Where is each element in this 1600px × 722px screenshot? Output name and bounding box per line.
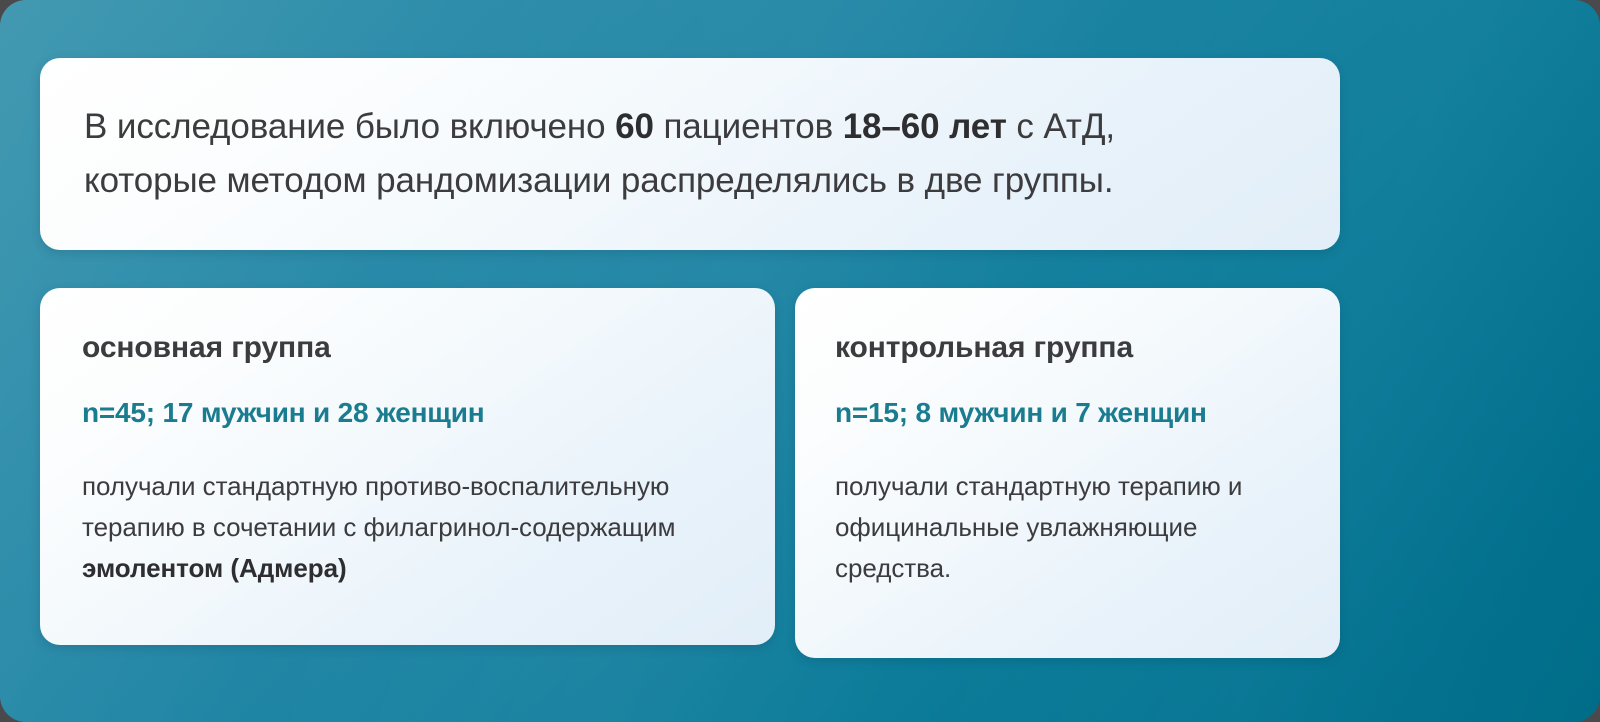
intro-age-range: 18–60 лет	[843, 107, 1007, 146]
main-group-stat: n=45; 17 мужчин и 28 женщин	[82, 396, 733, 430]
slide-canvas: В исследование было включено 60 пациенто…	[0, 0, 1600, 722]
control-group-body-text: получали стандартную терапию и официналь…	[835, 471, 1242, 583]
intro-patient-count: 60	[615, 107, 654, 146]
control-group-card: контрольная группа n=15; 8 мужчин и 7 же…	[795, 288, 1340, 658]
intro-card: В исследование было включено 60 пациенто…	[40, 58, 1340, 250]
intro-prefix: В исследование было включено	[84, 107, 615, 146]
main-group-title: основная группа	[82, 330, 733, 366]
control-group-stat: n=15; 8 мужчин и 7 женщин	[835, 396, 1300, 430]
main-group-description: получали стандартную противо-воспалитель…	[82, 466, 733, 589]
intro-line-1: В исследование было включено 60 пациенто…	[84, 100, 1296, 154]
control-group-title: контрольная группа	[835, 330, 1300, 366]
intro-line-2: которые методом рандомизации распределял…	[84, 154, 1296, 208]
intro-suffix: с АтД,	[1007, 107, 1115, 146]
main-group-card: основная группа n=45; 17 мужчин и 28 жен…	[40, 288, 775, 645]
main-group-body-text: получали стандартную противо-воспалитель…	[82, 471, 675, 542]
intro-middle: пациентов	[654, 107, 843, 146]
control-group-description: получали стандартную терапию и официналь…	[835, 466, 1300, 589]
main-group-body-emphasis: эмолентом (Адмера)	[82, 553, 347, 583]
